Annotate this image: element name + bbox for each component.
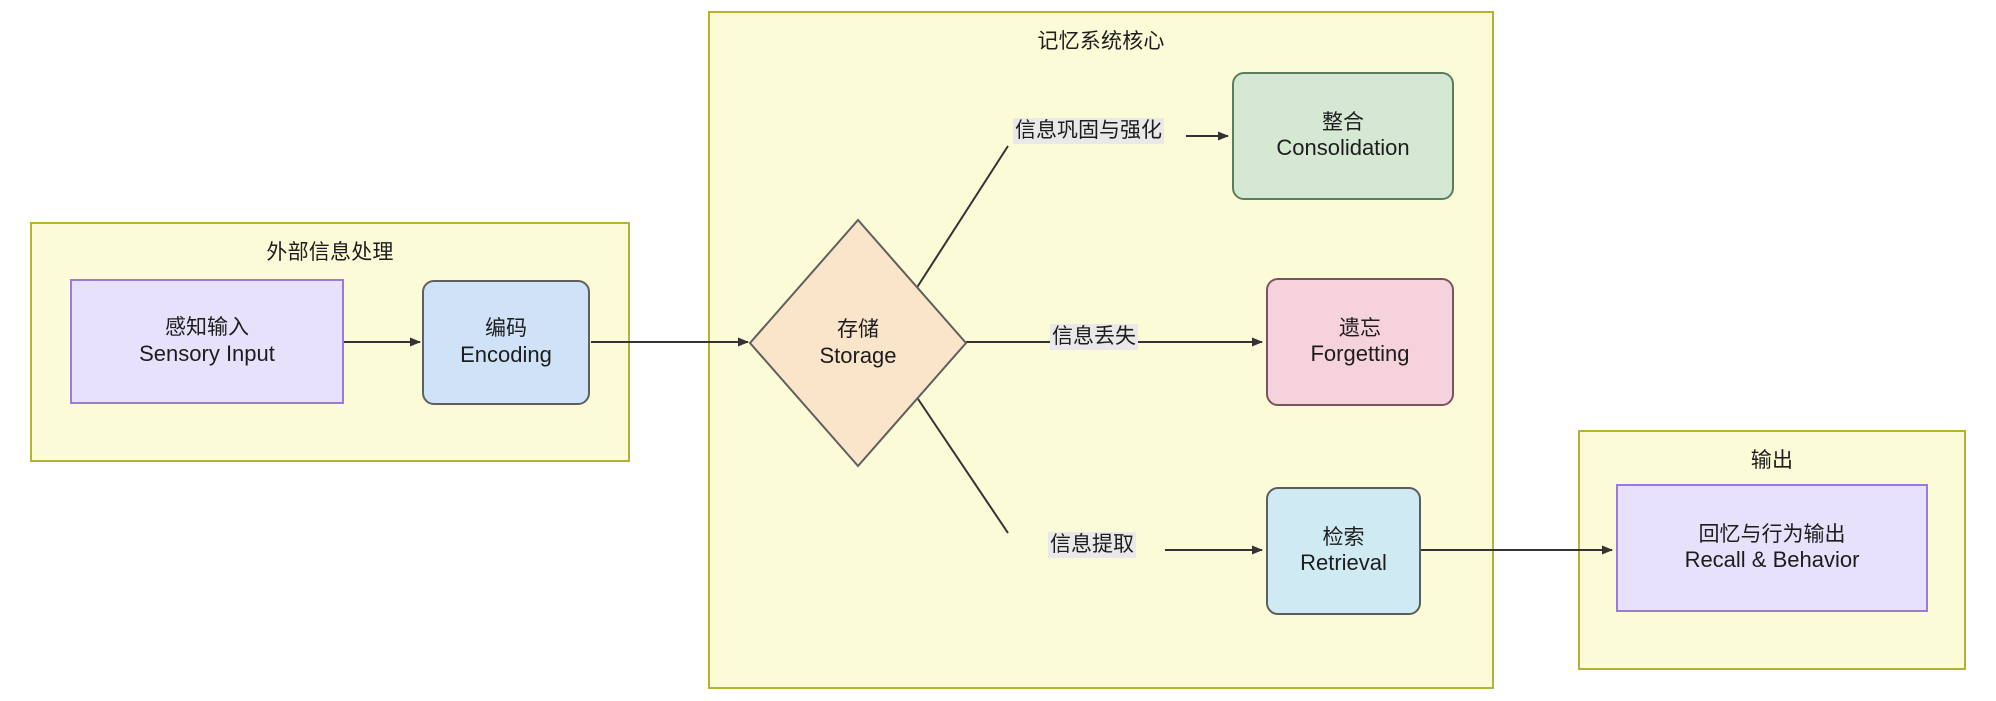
node-sensory-input-label-en: Sensory Input: [139, 341, 275, 368]
node-encoding[interactable]: 编码 Encoding: [422, 280, 590, 405]
node-consolidation-label-en: Consolidation: [1276, 135, 1409, 162]
node-storage[interactable]: 存储 Storage: [748, 218, 968, 468]
node-consolidation-label-cn: 整合: [1322, 110, 1364, 136]
node-recall-behavior[interactable]: 回忆与行为输出 Recall & Behavior: [1616, 484, 1928, 612]
node-encoding-label-en: Encoding: [460, 342, 552, 369]
node-retrieval-label-cn: 检索: [1323, 525, 1365, 551]
node-forgetting-label-en: Forgetting: [1310, 341, 1409, 368]
node-consolidation[interactable]: 整合 Consolidation: [1232, 72, 1454, 200]
node-forgetting-label-cn: 遗忘: [1339, 316, 1381, 342]
node-recall-behavior-label-en: Recall & Behavior: [1685, 547, 1860, 574]
storage-diamond-shape: [748, 218, 968, 468]
edge-label-retrieval: 信息提取: [1048, 532, 1136, 558]
node-sensory-input[interactable]: 感知输入 Sensory Input: [70, 279, 344, 404]
node-retrieval-label-en: Retrieval: [1300, 550, 1387, 577]
edge-label-forgetting: 信息丢失: [1050, 324, 1138, 350]
node-forgetting[interactable]: 遗忘 Forgetting: [1266, 278, 1454, 406]
node-sensory-input-label-cn: 感知输入: [165, 315, 249, 341]
node-encoding-label-cn: 编码: [485, 316, 527, 342]
node-recall-behavior-label-cn: 回忆与行为输出: [1699, 522, 1846, 548]
edge-label-consolidation: 信息巩固与强化: [1013, 118, 1164, 144]
node-retrieval[interactable]: 检索 Retrieval: [1266, 487, 1421, 615]
diagram-canvas: 外部信息处理 记忆系统核心 输出 感知输入 Sensory I: [0, 0, 1996, 701]
